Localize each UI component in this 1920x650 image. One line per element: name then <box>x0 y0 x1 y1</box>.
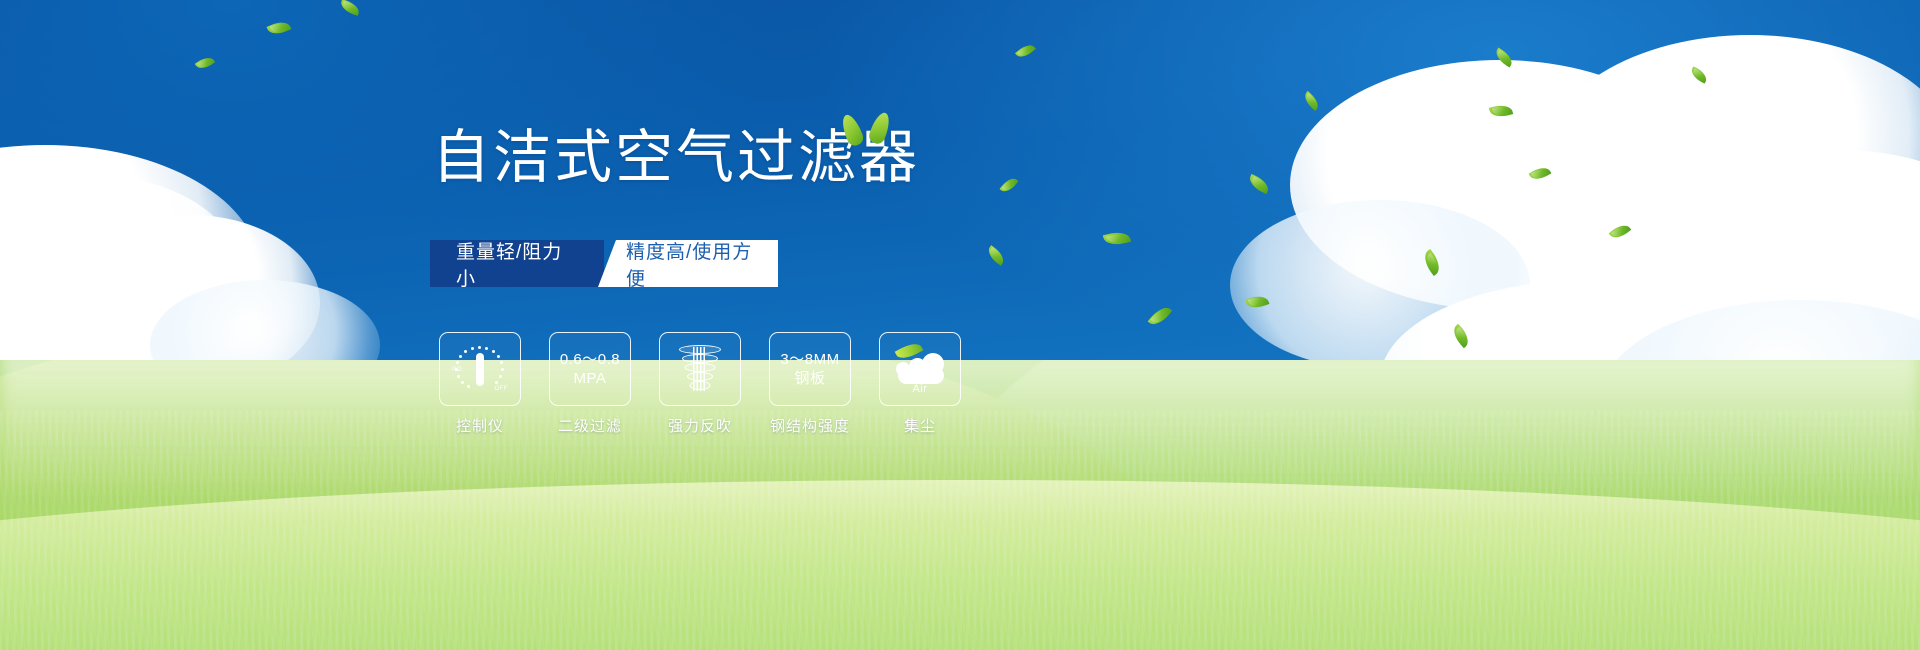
steel-value-line1: 3～8MM <box>780 350 839 369</box>
feature-item-blowback[interactable]: 强力反吹 <box>658 332 742 436</box>
pressure-value-line1: 0.6～0.8 <box>560 350 620 369</box>
feature-icon-box: 3～8MM 钢板 <box>769 332 851 406</box>
feature-icon-box: 0.6～0.8 MPA <box>549 332 631 406</box>
pressure-value-line2: MPA <box>574 369 607 388</box>
dial-needle <box>476 353 484 386</box>
feature-caption: 二级过滤 <box>558 415 622 436</box>
banner-content: 自洁式空气过滤器 重量轻/阻力小 精度高/使用方便 <box>0 0 1920 650</box>
feature-icon-box: Air <box>879 332 961 406</box>
feature-caption: 集尘 <box>904 415 936 436</box>
feature-item-dust-collection[interactable]: Air 集尘 <box>878 332 962 436</box>
feature-caption: 钢结构强度 <box>770 415 850 436</box>
tab-label: 重量轻/阻力小 <box>456 237 578 291</box>
dial-control-icon: NO OFF <box>452 344 508 394</box>
cloud-base <box>898 367 944 384</box>
leaf-icon-right <box>867 110 893 146</box>
feature-item-steel-strength[interactable]: 3～8MM 钢板 钢结构强度 <box>768 332 852 436</box>
tab-lightweight-lowresistance[interactable]: 重量轻/阻力小 <box>430 240 604 287</box>
dial-label-off: OFF <box>495 386 509 392</box>
hero-banner: 自洁式空气过滤器 重量轻/阻力小 精度高/使用方便 <box>0 0 1920 650</box>
tagline-tabs: 重量轻/阻力小 精度高/使用方便 <box>430 240 778 287</box>
feature-icon-box <box>659 332 741 406</box>
feature-caption: 强力反吹 <box>668 415 732 436</box>
feature-icon-box: NO OFF <box>439 332 521 406</box>
tab-label: 精度高/使用方便 <box>626 237 756 291</box>
tab-precision-easyuse[interactable]: 精度高/使用方便 <box>598 240 778 287</box>
dial-label-no: NO <box>452 367 462 373</box>
cloud-air-label: Air <box>892 383 948 395</box>
feature-list: NO OFF 控制仪 0.6～0.8 MPA 二级过滤 <box>438 332 962 436</box>
cone-stem <box>693 347 707 391</box>
leaf-icon-left <box>839 112 866 148</box>
feature-item-two-stage-filter[interactable]: 0.6～0.8 MPA 二级过滤 <box>548 332 632 436</box>
leaf-pair-icon <box>840 110 900 152</box>
cloud-air-icon: Air <box>892 347 948 391</box>
feature-caption: 控制仪 <box>456 415 504 436</box>
steel-value-line2: 钢板 <box>794 369 825 388</box>
feature-item-controller[interactable]: NO OFF 控制仪 <box>438 332 522 436</box>
cone-blowback-icon <box>677 344 723 394</box>
